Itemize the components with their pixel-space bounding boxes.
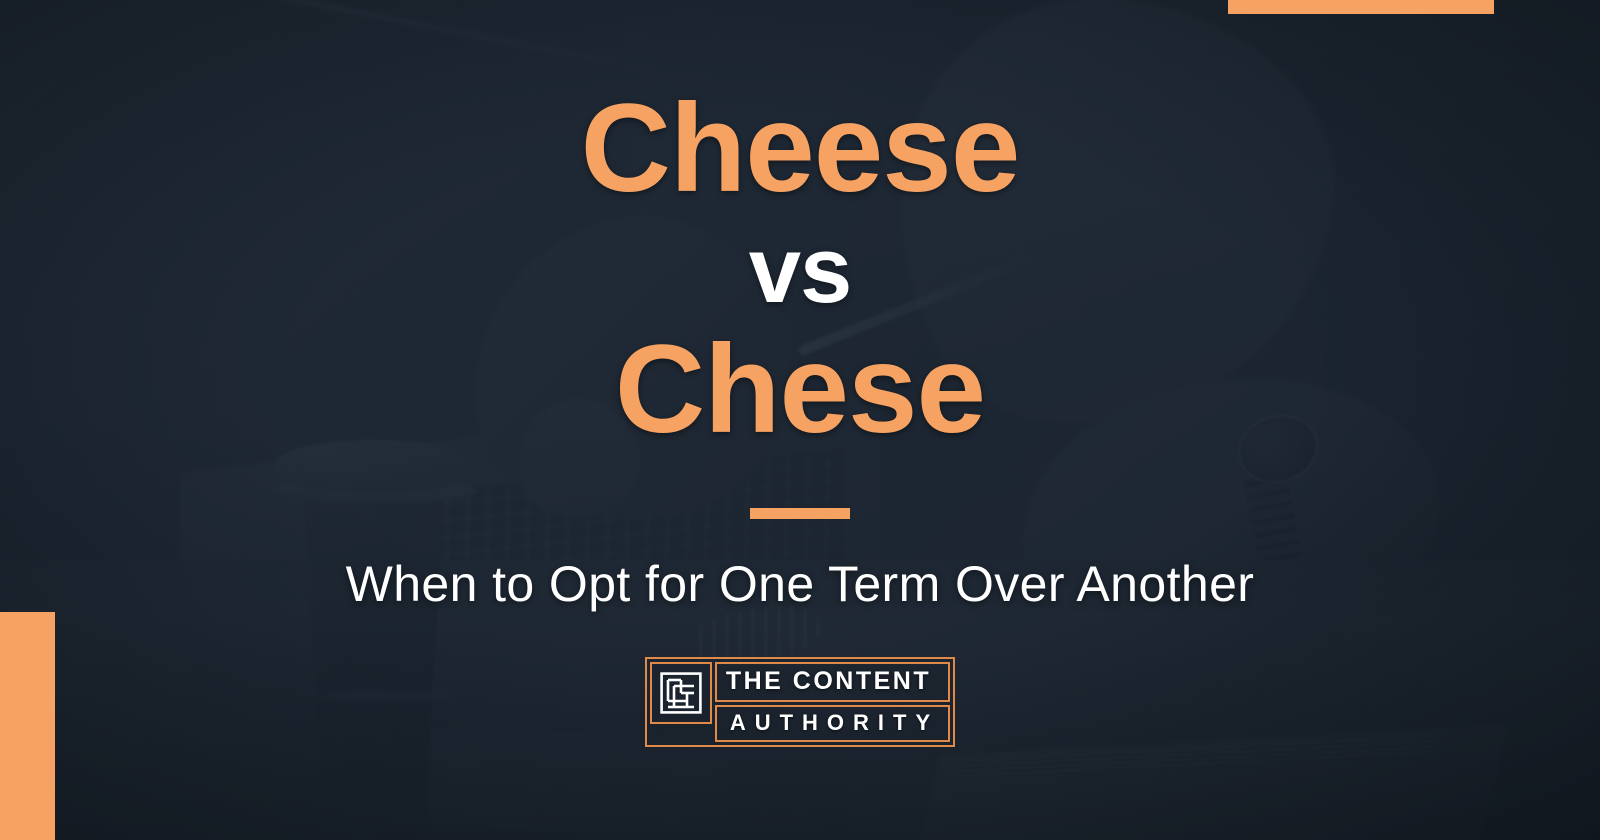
brand-logo-line-two: AUTHORITY <box>715 705 950 742</box>
brand-logo[interactable]: THE CONTENT AUTHORITY <box>645 657 955 747</box>
page-title: Cheese vs Chese <box>581 86 1020 452</box>
title-term-two: Chese <box>581 327 1020 452</box>
content-authority-monogram-icon <box>650 662 712 724</box>
title-term-one: Cheese <box>581 86 1020 211</box>
page-subtitle: When to Opt for One Term Over Another <box>346 555 1255 613</box>
brand-logo-wordmark: THE CONTENT AUTHORITY <box>715 662 950 742</box>
banner-content: Cheese vs Chese When to Opt for One Term… <box>0 0 1600 840</box>
banner: Cheese vs Chese When to Opt for One Term… <box>0 0 1600 840</box>
title-versus-separator: vs <box>581 223 1020 317</box>
orange-rule-divider <box>750 508 850 519</box>
brand-logo-line-one: THE CONTENT <box>715 662 950 702</box>
